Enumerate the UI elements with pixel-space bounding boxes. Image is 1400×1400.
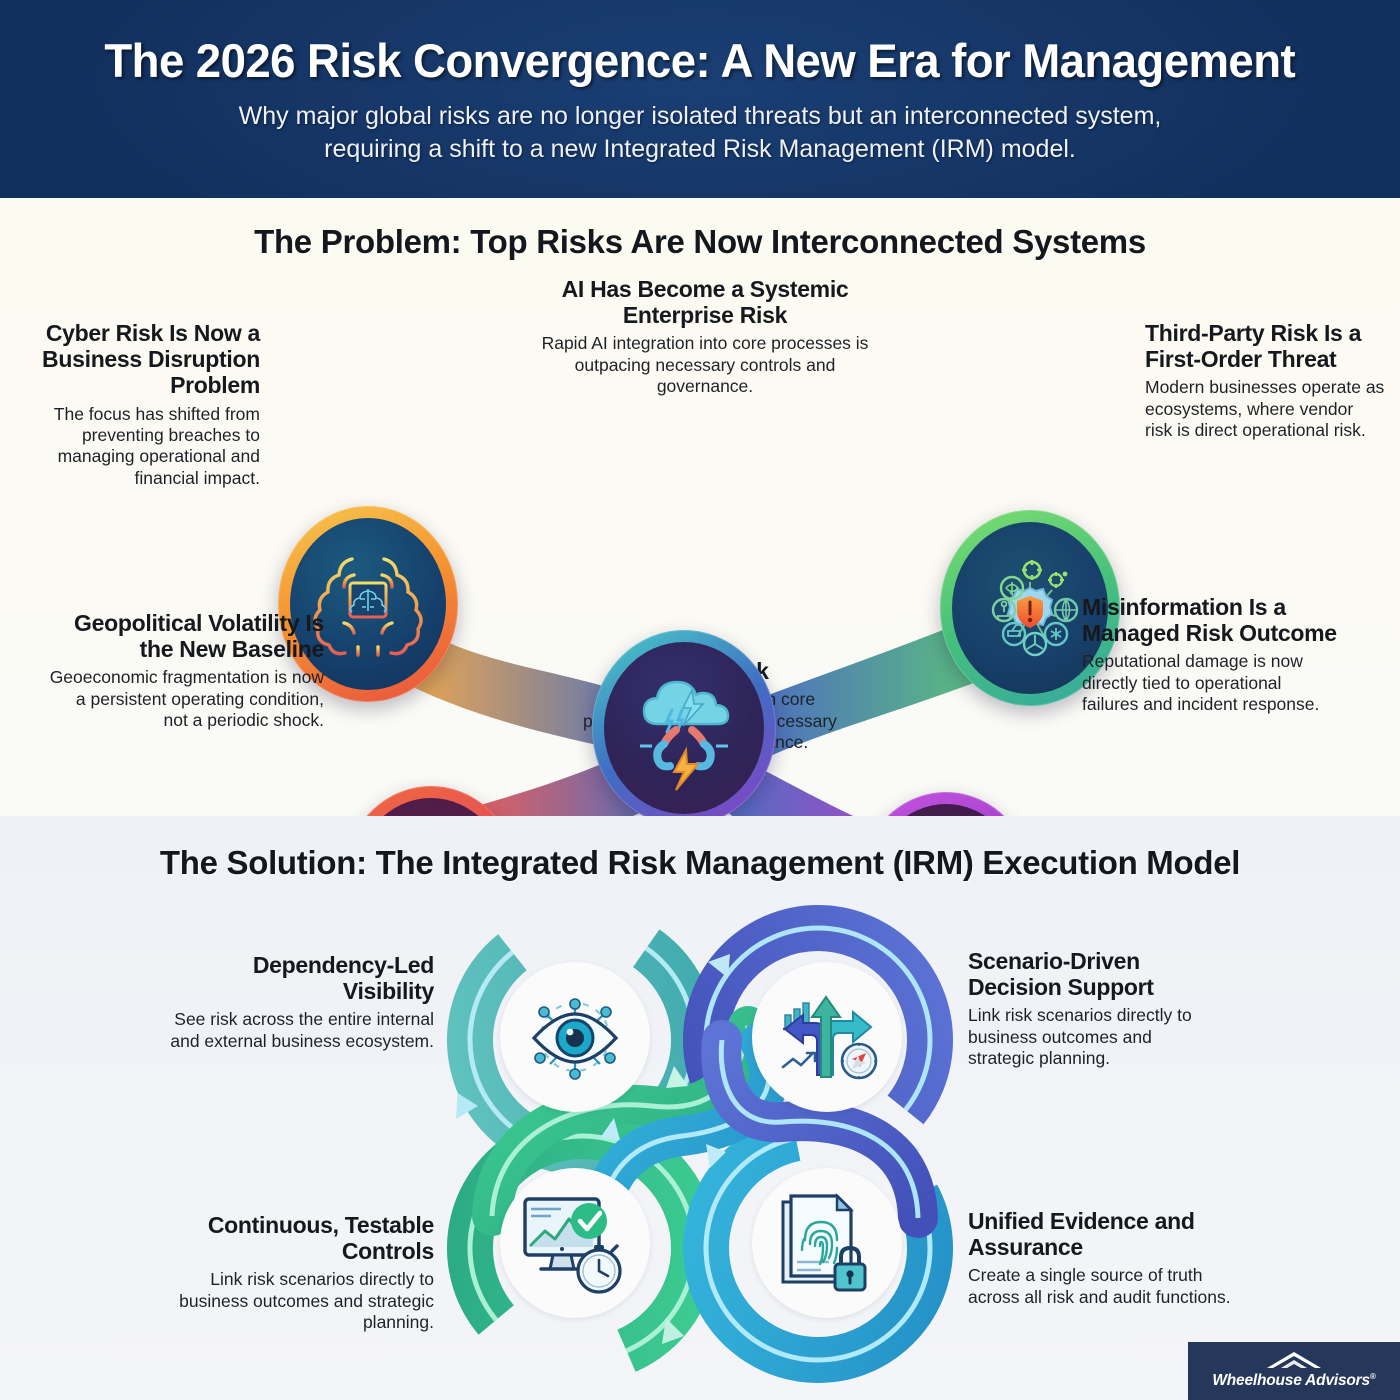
body-cyber-business-disruption: The focus has shifted from preventing br… — [20, 404, 260, 489]
header-banner: The 2026 Risk Convergence: A New Era for… — [0, 0, 1400, 198]
heading-dependency-led-visibility: Dependency-Led Visibility — [170, 952, 434, 1004]
text-continuous-testable-controls: Continuous, Testable Controls Link risk … — [170, 1212, 434, 1333]
heading-unified-evidence-assurance: Unified Evidence and Assurance — [968, 1208, 1254, 1260]
heading-continuous-testable-controls: Continuous, Testable Controls — [170, 1212, 434, 1264]
solution-section: The Solution: The Integrated Risk Manage… — [0, 816, 1400, 1400]
logo-text: Wheelhouse Advisors® — [1212, 1372, 1375, 1390]
text-dependency-led-visibility: Dependency-Led Visibility See risk acros… — [170, 952, 434, 1052]
ecosystem-network-gear-icon — [966, 544, 1094, 672]
heading-geopolitical-volatility: Geopolitical Volatility Is the New Basel… — [48, 610, 324, 662]
text-misinformation-managed-risk: Misinformation Is a Managed Risk Outcome… — [1082, 594, 1342, 715]
irm-cycle-rings — [430, 900, 970, 1400]
network-eye-icon — [520, 982, 630, 1092]
icon-dependency-led-visibility[interactable] — [500, 962, 650, 1112]
text-third-party-first-order-threat: Third-Party Risk Is a First-Order Threat… — [1145, 320, 1385, 441]
logo-registered-mark: ® — [1370, 1372, 1376, 1381]
monitor-chart-stopwatch-check-icon — [517, 1189, 633, 1297]
body-dependency-led-visibility: See risk across the entire internal and … — [170, 1009, 434, 1052]
chevron-roof-logo-icon — [1263, 1351, 1325, 1371]
node-ai-systemic-enterprise-risk[interactable] — [592, 630, 776, 816]
heading-misinformation-managed-risk: Misinformation Is a Managed Risk Outcome — [1082, 594, 1342, 646]
body-unified-evidence-assurance: Create a single source of truth across a… — [968, 1265, 1254, 1308]
icon-unified-evidence-assurance[interactable] — [752, 1168, 902, 1318]
header-subtitle-line2: requiring a shift to a new Integrated Ri… — [239, 133, 1162, 166]
body-misinformation-managed-risk: Reputational damage is now directly tied… — [1082, 651, 1342, 715]
brain-circuit-icon — [308, 539, 428, 669]
text-cyber-business-disruption: Cyber Risk Is Now a Business Disruption … — [20, 320, 260, 489]
page-title: The 2026 Risk Convergence: A New Era for… — [105, 33, 1296, 88]
text-geopolitical-volatility: Geopolitical Volatility Is the New Basel… — [48, 610, 324, 731]
document-fingerprint-lock-icon — [773, 1188, 881, 1298]
logo-badge[interactable]: Wheelhouse Advisors® — [1188, 1342, 1400, 1400]
text-scenario-driven-decision-support: Scenario-Driven Decision Support Link ri… — [968, 948, 1220, 1069]
heading-ai-systemic-enterprise-risk: AI Has Become a Systemic Enterprise Risk — [540, 276, 870, 328]
branching-arrows-compass-icon — [771, 981, 883, 1093]
text-ai-systemic-enterprise-risk: AI Has Become a Systemic Enterprise Risk… — [540, 276, 870, 397]
body-ai-systemic-enterprise-risk: Rapid AI integration into core processes… — [540, 333, 870, 397]
text-unified-evidence-assurance: Unified Evidence and Assurance Create a … — [968, 1208, 1254, 1308]
storm-cloud-broken-chain-icon — [620, 664, 748, 792]
heading-cyber-business-disruption: Cyber Risk Is Now a Business Disruption … — [20, 320, 260, 399]
icon-continuous-testable-controls[interactable] — [500, 1168, 650, 1318]
header-subtitle: Why major global risks are no longer iso… — [239, 100, 1162, 166]
header-subtitle-line1: Why major global risks are no longer iso… — [239, 100, 1162, 133]
icon-scenario-driven-decision-support[interactable] — [752, 962, 902, 1112]
heading-scenario-driven-decision-support: Scenario-Driven Decision Support — [968, 948, 1220, 1000]
heading-third-party-first-order-threat: Third-Party Risk Is a First-Order Threat — [1145, 320, 1385, 372]
body-continuous-testable-controls: Link risk scenarios directly to business… — [170, 1269, 434, 1333]
body-third-party-first-order-threat: Modern businesses operate as ecosystems,… — [1145, 377, 1385, 441]
logo-name: Wheelhouse Advisors — [1212, 1373, 1370, 1390]
body-geopolitical-volatility: Geoeconomic fragmentation is now a persi… — [48, 667, 324, 731]
infographic-page: The 2026 Risk Convergence: A New Era for… — [0, 0, 1400, 1400]
problem-section: The Problem: Top Risks Are Now Interconn… — [0, 198, 1400, 816]
solution-section-title: The Solution: The Integrated Risk Manage… — [0, 844, 1400, 882]
body-scenario-driven-decision-support: Link risk scenarios directly to business… — [968, 1005, 1220, 1069]
